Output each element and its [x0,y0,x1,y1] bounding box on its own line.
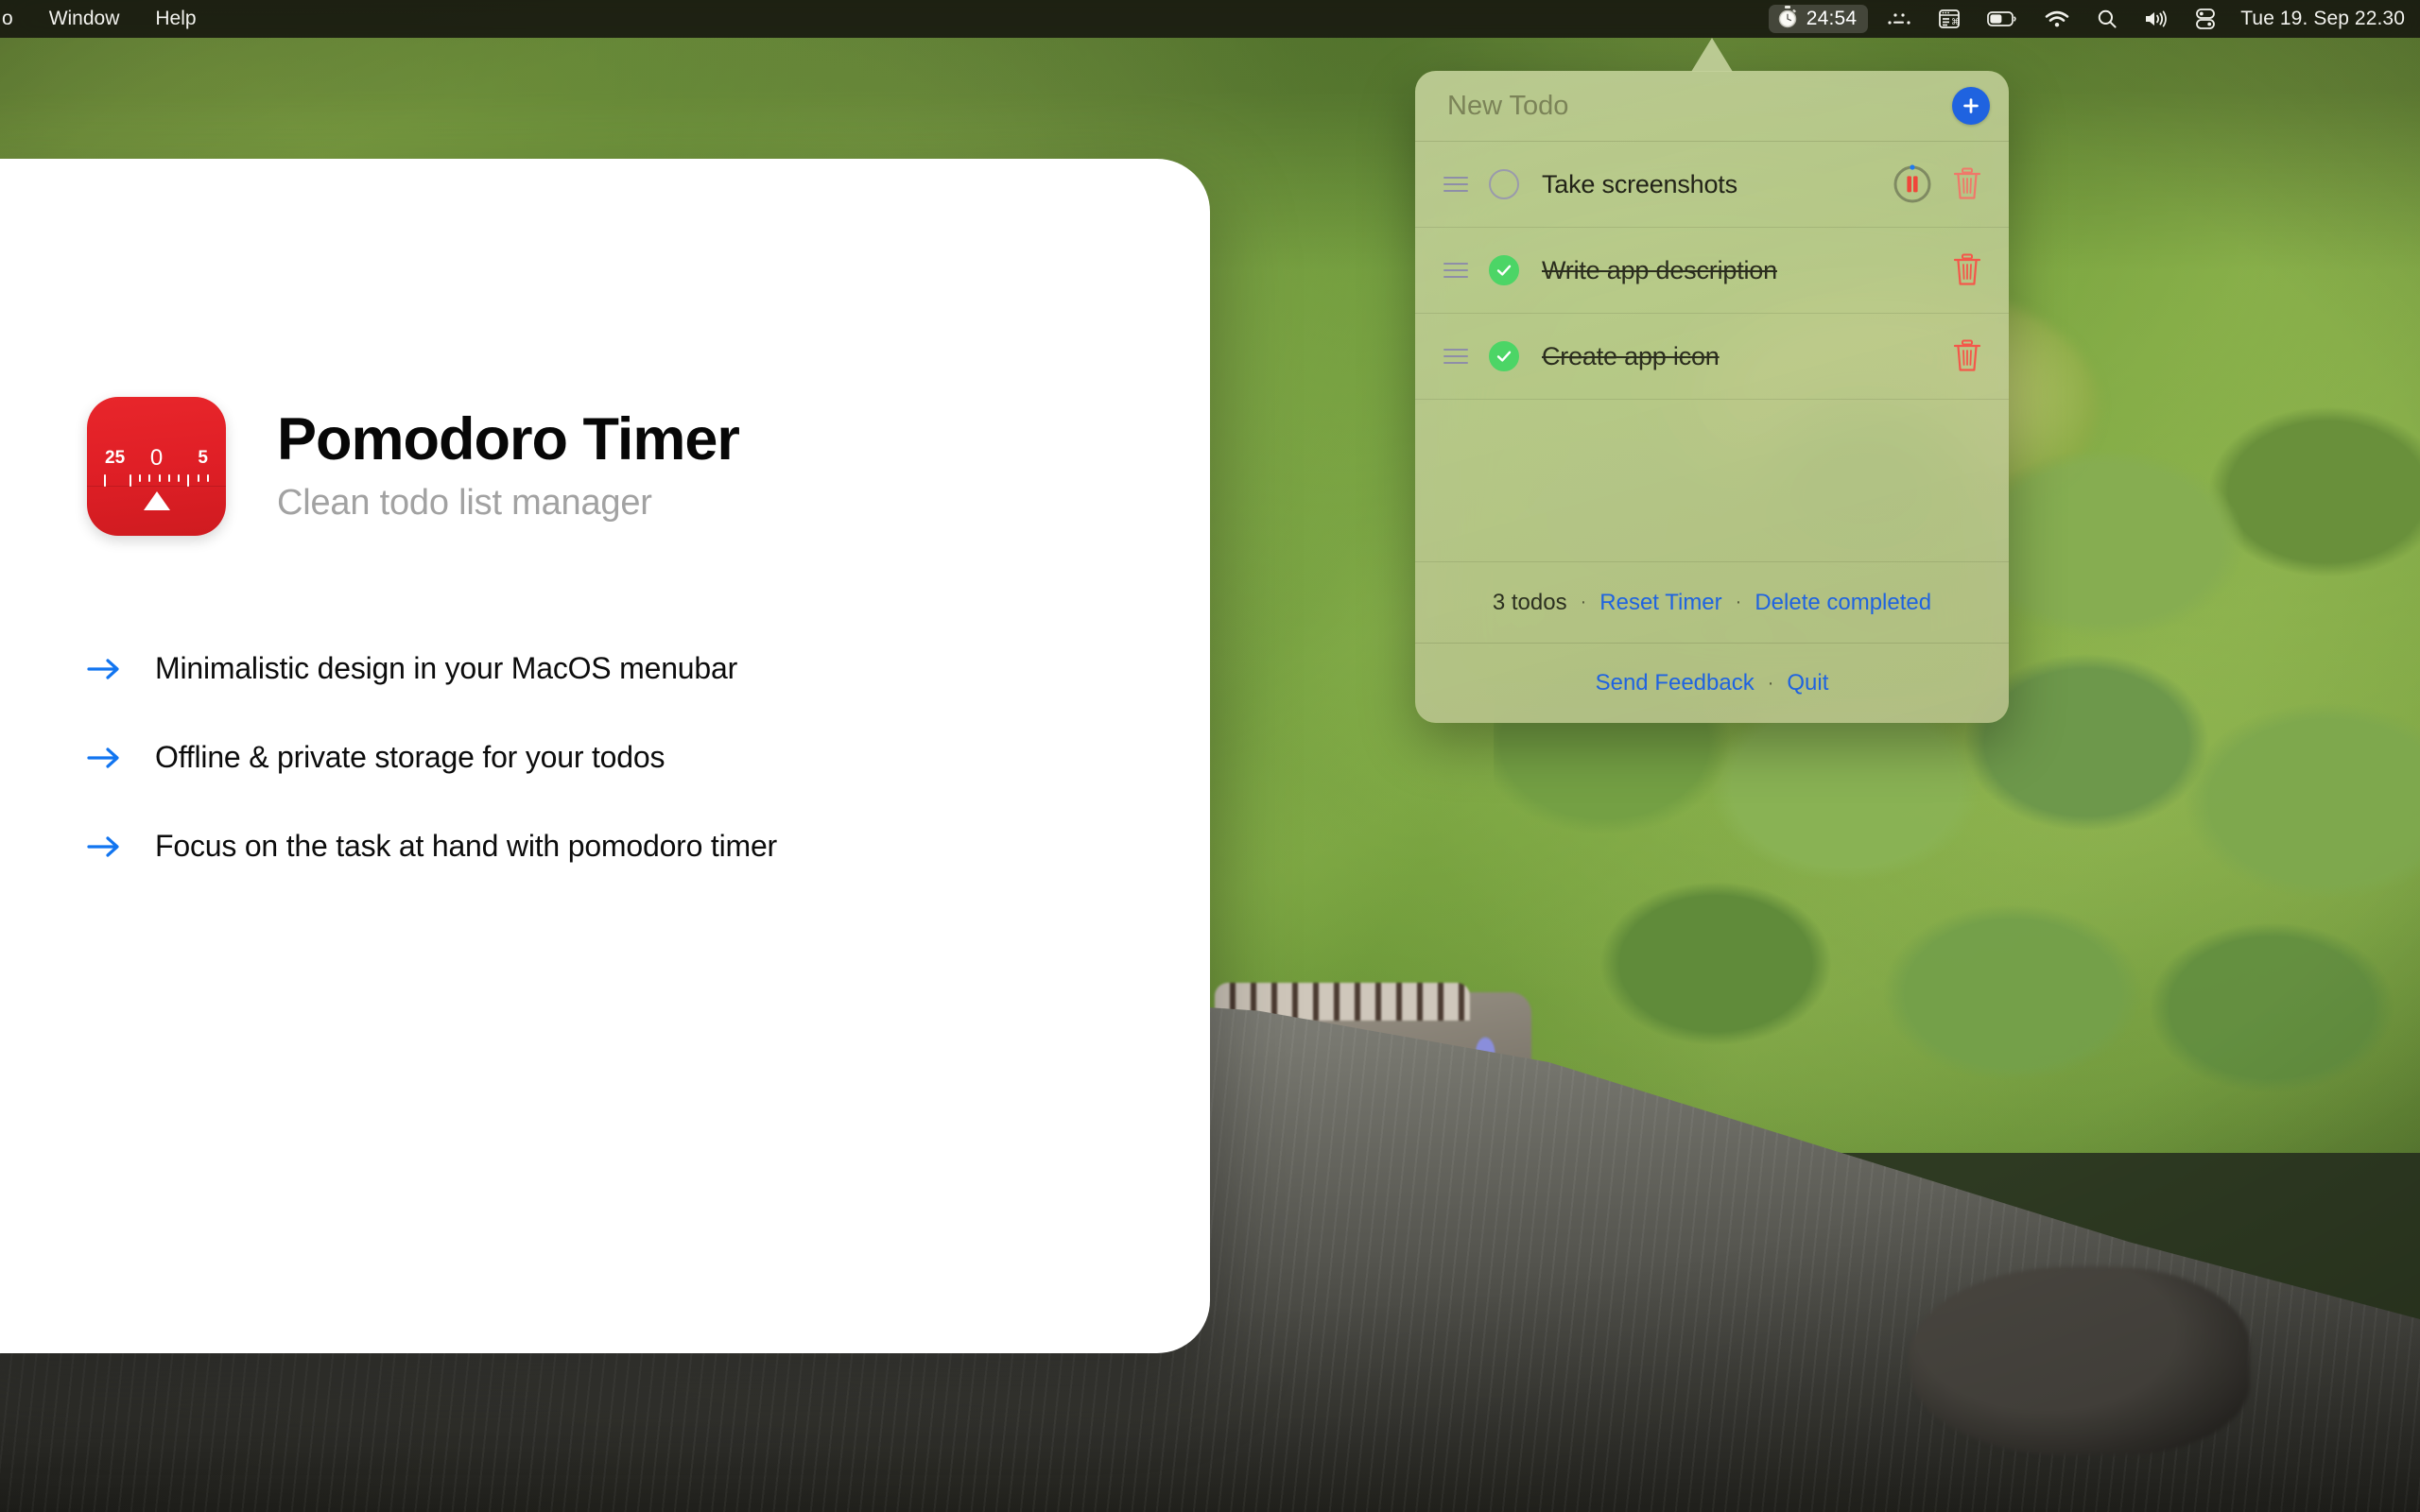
new-todo-header [1415,71,2009,142]
dial-label-0: 0 [150,445,163,472]
todo-count-label: 3 todos [1493,590,1567,616]
timer-remaining-label: 24:54 [1806,8,1858,30]
popover-footer-secondary: Send Feedback · Quit [1415,644,2009,723]
todo-label: Take screenshots [1542,170,1890,199]
quit-link[interactable]: Quit [1787,670,1828,696]
volume-icon[interactable] [2131,0,2182,38]
footer-separator: · [1736,592,1742,613]
arrow-right-icon [87,742,123,774]
row-actions [1945,334,1990,379]
todo-list-empty-space [1415,400,2009,562]
plus-icon [1961,95,1981,116]
shortcuts-window-icon[interactable]: ⌘ [1925,0,1974,38]
drag-handle-icon[interactable] [1443,263,1468,278]
pomodoro-timer-app-icon: 25 0 5 [87,397,226,536]
feature-label: Minimalistic design in your MacOS menuba… [155,651,737,686]
feature-list: Minimalistic design in your MacOS menuba… [87,651,1127,864]
menubar-clock[interactable]: Tue 19. Sep 22.30 [2229,8,2405,30]
drag-handle-icon[interactable] [1443,177,1468,192]
menu-window[interactable]: Window [31,0,138,38]
popover-arrow [1691,38,1733,72]
menubar-timer-chip[interactable]: 24:54 [1769,5,1869,33]
send-feedback-link[interactable]: Send Feedback [1596,670,1754,696]
reset-timer-link[interactable]: Reset Timer [1599,590,1721,616]
menubar-status-area: 24:54 ⌘ [1769,0,2420,38]
todo-checkbox[interactable] [1489,341,1519,371]
dictation-dots-icon[interactable] [1874,0,1925,38]
page-subtitle: Clean todo list manager [277,483,739,524]
arrow-right-icon [87,831,123,863]
row-actions [1890,162,1990,207]
stopwatch-icon [1777,6,1798,33]
check-icon [1495,261,1513,280]
battery-icon[interactable] [1974,0,2031,38]
trash-icon [1951,252,1983,288]
check-icon [1495,347,1513,366]
new-todo-input[interactable] [1447,91,1952,122]
promo-content: 25 0 5 Pomo [87,397,1127,864]
feature-label: Offline & private storage for your todos [155,740,665,775]
delete-todo-button[interactable] [1945,334,1990,379]
dial-numbers: 25 0 5 [87,448,226,469]
macos-menubar: o Window Help 24:54 [0,0,2420,38]
feature-item: Offline & private storage for your todos [87,740,1127,775]
menu-help[interactable]: Help [137,0,214,38]
dial-label-25: 25 [105,448,125,469]
table-row[interactable]: Write app description [1415,228,2009,314]
dial-tick-marks [87,474,226,487]
todo-checkbox[interactable] [1489,255,1519,285]
footer-separator: · [1581,592,1587,613]
dial-label-5: 5 [198,448,208,469]
row-actions [1945,248,1990,293]
delete-completed-link[interactable]: Delete completed [1754,590,1931,616]
trash-icon [1951,338,1983,374]
todo-popover-panel: Take screenshots [1415,71,2009,723]
popover-footer-primary: 3 todos · Reset Timer · Delete completed [1415,562,2009,644]
wifi-icon[interactable] [2031,0,2083,38]
feature-item: Minimalistic design in your MacOS menuba… [87,651,1127,686]
menubar-left-menus: o Window Help [0,0,215,38]
promo-card: 25 0 5 Pomo [0,159,1210,1353]
dial-pointer [144,491,170,510]
svg-text:⌘: ⌘ [1951,17,1960,26]
arrow-right-icon [87,653,123,685]
todo-label: Create app icon [1542,342,1945,371]
app-title-block: Pomodoro Timer Clean todo list manager [277,409,739,524]
control-center-icon[interactable] [2182,0,2229,38]
trash-icon [1951,166,1983,202]
app-header: 25 0 5 Pomo [87,397,1127,536]
todo-label: Write app description [1542,256,1945,285]
todo-list: Take screenshots [1415,142,2009,562]
add-todo-button[interactable] [1952,87,1990,125]
menu-app-truncated[interactable]: o [0,0,31,38]
spotlight-search-icon[interactable] [2083,0,2131,38]
page-title: Pomodoro Timer [277,409,739,472]
pause-timer-button[interactable] [1890,162,1935,207]
todo-checkbox[interactable] [1489,169,1519,199]
footer-separator: · [1768,673,1774,695]
table-row[interactable]: Take screenshots [1415,142,2009,228]
feature-item: Focus on the task at hand with pomodoro … [87,829,1127,864]
drag-handle-icon[interactable] [1443,349,1468,364]
delete-todo-button[interactable] [1945,162,1990,207]
delete-todo-button[interactable] [1945,248,1990,293]
feature-label: Focus on the task at hand with pomodoro … [155,829,777,864]
table-row[interactable]: Create app icon [1415,314,2009,400]
